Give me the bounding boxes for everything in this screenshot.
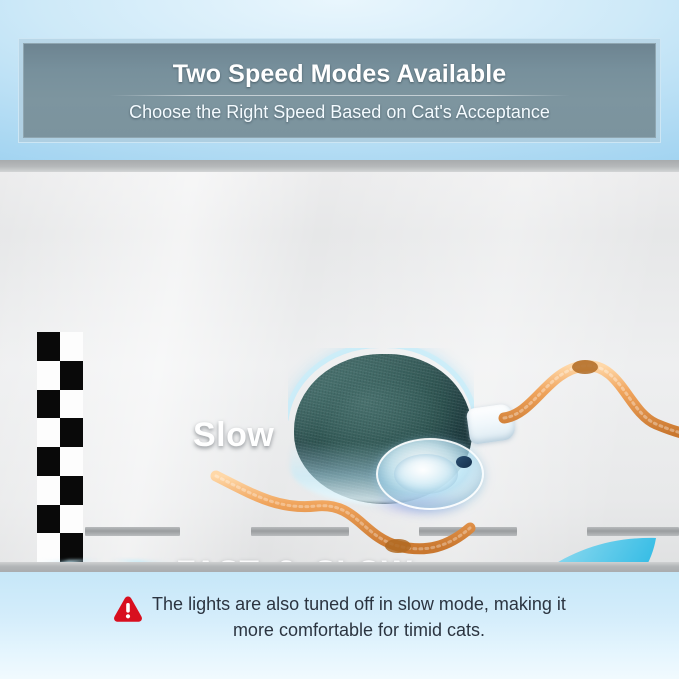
warning-text-line1: The lights are also tuned off in slow mo…: [152, 594, 566, 614]
checkered-flag-icon: [37, 332, 83, 562]
warning-triangle-icon: [113, 595, 143, 623]
header-divider: [109, 95, 570, 96]
infographic-root: Two Speed Modes Available Choose the Rig…: [0, 0, 679, 679]
lane-dash: [85, 527, 180, 536]
road-top-edge: [0, 160, 679, 172]
rattan-wand-upper: [500, 340, 679, 450]
header-panel: Two Speed Modes Available Choose the Rig…: [23, 43, 656, 138]
footer-section: The lights are also tuned off in slow mo…: [0, 572, 679, 679]
page-subtitle: Choose the Right Speed Based on Cat's Ac…: [129, 103, 550, 121]
header-frame: Two Speed Modes Available Choose the Rig…: [18, 38, 661, 143]
road-scene: Slow FAST≈2×SLOW: [0, 160, 679, 572]
road-bottom-edge: [0, 562, 679, 572]
warning-text-line2: more comfortable for timid cats.: [152, 618, 566, 644]
rattan-wand-lower: [212, 452, 477, 557]
warning-row: The lights are also tuned off in slow mo…: [0, 592, 679, 643]
header-section: Two Speed Modes Available Choose the Rig…: [0, 0, 679, 160]
slow-mode-label: Slow: [193, 416, 274, 455]
page-title: Two Speed Modes Available: [173, 62, 507, 87]
warning-text: The lights are also tuned off in slow mo…: [152, 592, 566, 643]
